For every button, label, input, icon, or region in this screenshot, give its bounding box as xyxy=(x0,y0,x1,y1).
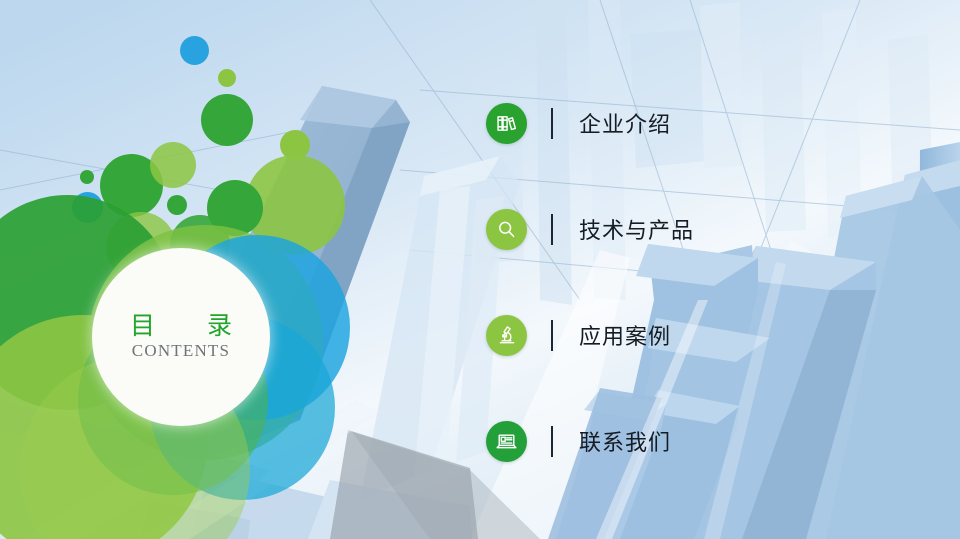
menu-item-applications[interactable]: 应用案例 xyxy=(486,304,906,366)
menu-label-contact-us: 联系我们 xyxy=(579,425,671,457)
magnifier-icon[interactable] xyxy=(486,209,527,250)
contents-title-cn: 目 录 xyxy=(108,313,254,339)
books-icon[interactable] xyxy=(486,103,527,144)
bubble-green-light-3 xyxy=(150,142,196,188)
bubble-blue-1 xyxy=(180,36,209,65)
menu-item-company-intro[interactable]: 企业介绍 xyxy=(486,92,906,154)
bubble-green-dark-2 xyxy=(80,170,94,184)
menu-item-contact-us[interactable]: 联系我们 xyxy=(486,410,906,472)
menu-label-applications: 应用案例 xyxy=(579,319,671,351)
contents-menu: 企业介绍 技术与产品 xyxy=(486,92,906,472)
menu-divider xyxy=(551,108,553,139)
laptop-icon[interactable] xyxy=(486,421,527,462)
menu-label-tech-products: 技术与产品 xyxy=(579,213,694,245)
microscope-icon[interactable] xyxy=(486,315,527,356)
menu-label-company-intro: 企业介绍 xyxy=(579,107,671,139)
menu-item-tech-products[interactable]: 技术与产品 xyxy=(486,198,906,260)
slide-canvas: 目 录 CONTENTS 企业介绍 xyxy=(0,0,960,539)
menu-divider xyxy=(551,320,553,351)
contents-title-en: CONTENTS xyxy=(132,341,230,361)
bubble-green-dark-1 xyxy=(201,94,253,146)
bubble-green-light-1 xyxy=(218,69,236,87)
menu-divider xyxy=(551,426,553,457)
contents-center-disc: 目 录 CONTENTS xyxy=(92,248,270,426)
menu-divider xyxy=(551,214,553,245)
